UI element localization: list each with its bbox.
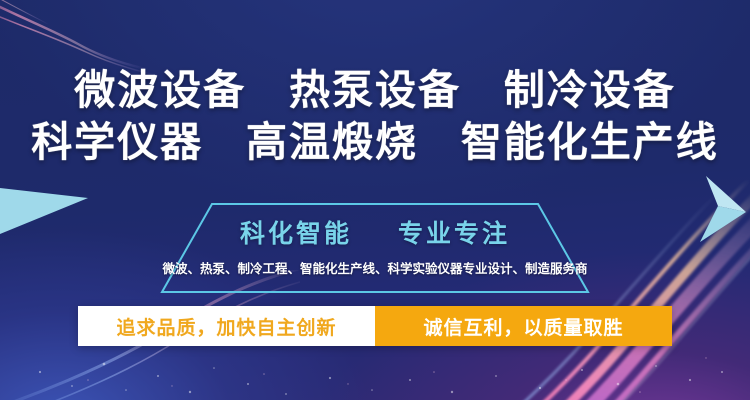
headline-line-1: 微波设备 热泵设备 制冷设备 xyxy=(0,64,750,116)
headline-line2-item-3: 智能化生产线 xyxy=(461,119,719,165)
tagline-title-right: 专业专注 xyxy=(398,220,510,248)
promo-banner: 微波设备 热泵设备 制冷设备 科学仪器 高温煅烧 智能化生产线 科化智能 专业专… xyxy=(0,0,750,400)
headline-line-2: 科学仪器 高温煅烧 智能化生产线 xyxy=(0,116,750,168)
slogan-bar-group: 追求品质，加快自主创新 诚信互利，以质量取胜 xyxy=(78,306,672,346)
tagline-title: 科化智能 专业专注 xyxy=(0,214,750,250)
tagline-subtitle: 微波、热泵、制冷工程、智能化生产线、科学实验仪器专业设计、制造服务商 xyxy=(0,258,750,277)
headline-line1-item-3: 制冷设备 xyxy=(504,67,676,113)
headline-line2-item-2: 高温煅烧 xyxy=(246,119,418,165)
tagline-block: 科化智能 专业专注 微波、热泵、制冷工程、智能化生产线、科学实验仪器专业设计、制… xyxy=(0,200,750,296)
headline-line1-item-2: 热泵设备 xyxy=(289,67,461,113)
headline-block: 微波设备 热泵设备 制冷设备 科学仪器 高温煅烧 智能化生产线 xyxy=(0,64,750,168)
headline-line1-item-1: 微波设备 xyxy=(74,67,246,113)
tagline-title-left: 科化智能 xyxy=(240,220,352,248)
headline-line2-item-1: 科学仪器 xyxy=(31,119,203,165)
slogan-right[interactable]: 诚信互利，以质量取胜 xyxy=(375,306,672,346)
slogan-left[interactable]: 追求品质，加快自主创新 xyxy=(78,306,375,346)
